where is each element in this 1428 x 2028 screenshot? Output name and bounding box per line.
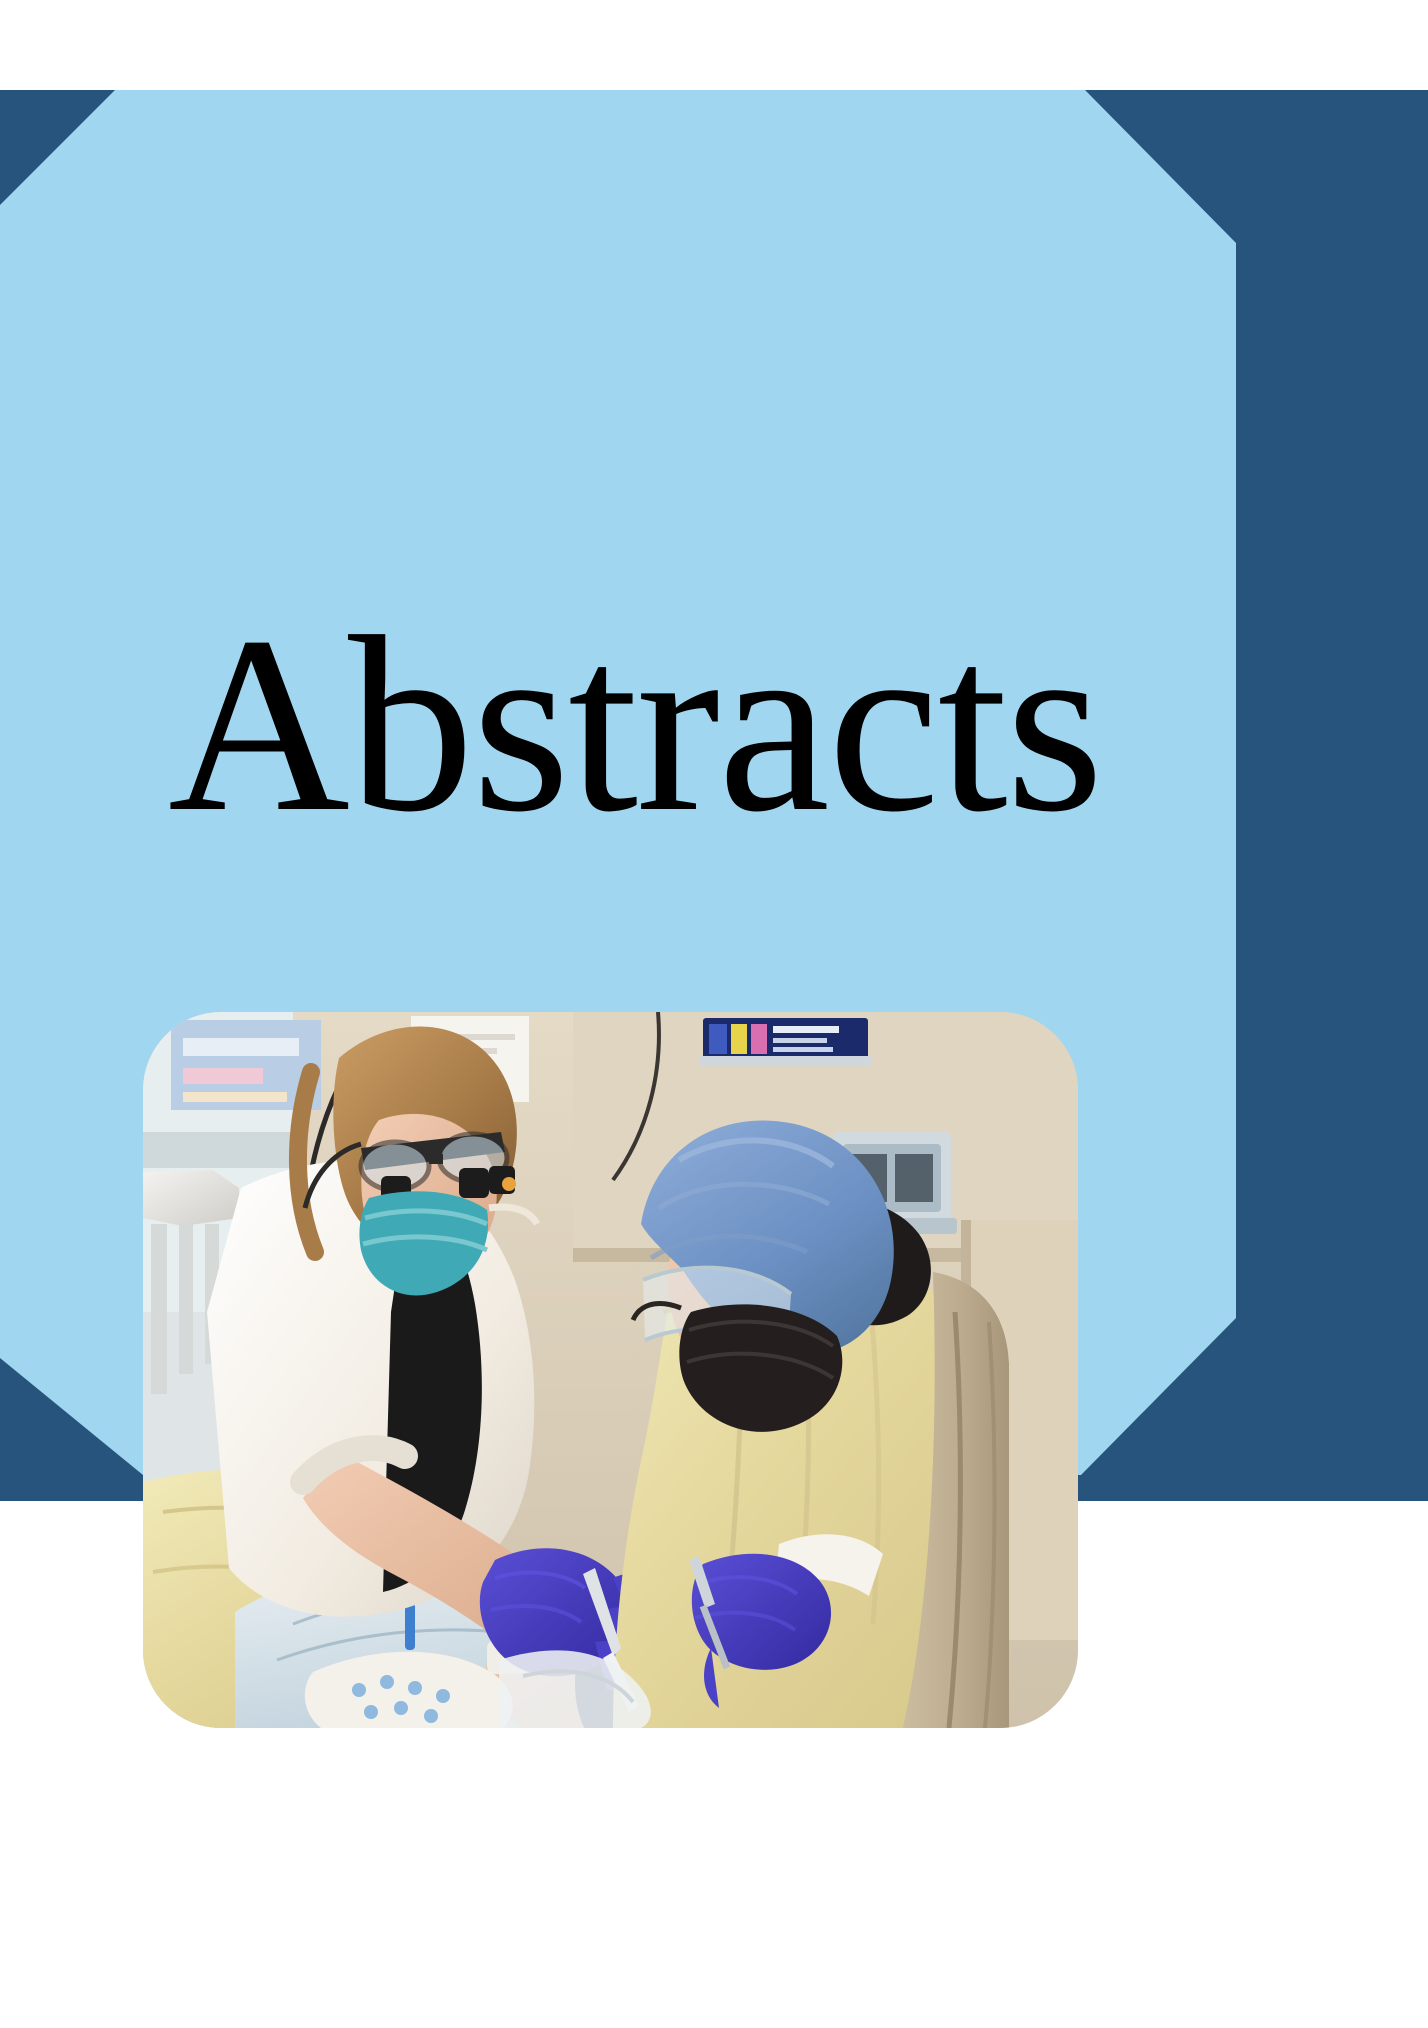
slide-page: Abstracts bbox=[0, 0, 1428, 2028]
clinical-photo bbox=[143, 1012, 1078, 1728]
page-title: Abstracts bbox=[168, 598, 1068, 850]
clinical-photo-illustration bbox=[143, 1012, 1078, 1728]
